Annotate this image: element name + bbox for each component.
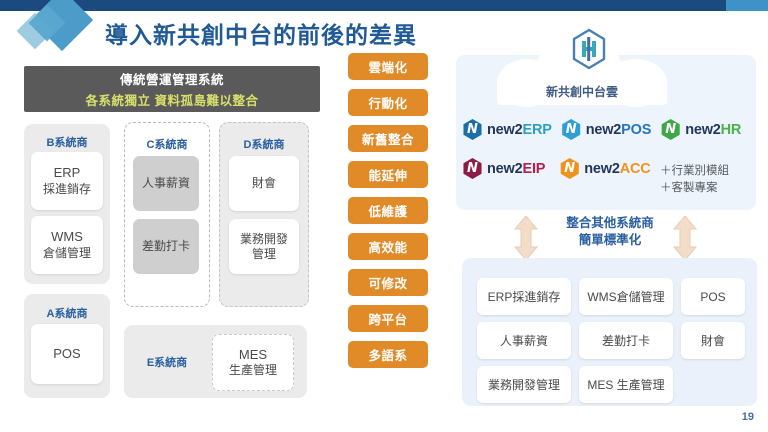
module-biz-dev: 業務開發 管理 <box>229 219 299 274</box>
extra-note-line2: ＋客製專案 <box>660 180 729 197</box>
module-biz-dev-line2: 管理 <box>252 247 276 262</box>
vendor-box-b: B系統商 ERP 採進銷存 WMS 倉儲管理 <box>24 124 110 284</box>
legacy-header-line2: 各系統獨立 資料孤島難以整合 <box>86 90 259 109</box>
module-erp-line1: ERP <box>54 165 81 181</box>
integrated-module-erp[interactable]: ERP採進銷存 <box>477 278 571 315</box>
module-pos: POS <box>31 324 103 384</box>
brand-diamond-logo <box>14 4 100 62</box>
module-mes-line2: 生產管理 <box>229 363 277 378</box>
integration-caption-line1: 整合其他系統商 <box>540 215 680 232</box>
feature-tag-crossplatform[interactable]: 跨平台 <box>348 305 428 332</box>
n-hex-icon-pos: N <box>561 119 582 140</box>
top-bar <box>0 0 768 11</box>
legacy-system-header: 傳統營運管理系統 各系統獨立 資料孤島難以整合 <box>24 66 320 112</box>
product-name-acc: new2ACC <box>584 161 650 177</box>
integrated-module-bizdev[interactable]: 業務開發管理 <box>477 366 571 403</box>
feature-tag-integrate[interactable]: 新舊整合 <box>348 125 428 152</box>
feature-tag-modifiable[interactable]: 可修改 <box>348 269 428 296</box>
vendor-box-a: A系統商 POS <box>24 294 110 398</box>
product-logo-new2eip[interactable]: N new2EIP <box>462 158 545 179</box>
feature-tag-extend[interactable]: 能延伸 <box>348 161 428 188</box>
cloud-platform-name: 新共創中台雲 <box>497 83 667 100</box>
integrated-module-payroll[interactable]: 人事薪資 <box>477 322 571 359</box>
extra-modules-note: ＋行業別模組 ＋客製專案 <box>660 163 729 196</box>
vendor-label-a: A系統商 <box>24 305 110 321</box>
vendor-label-e: E系統商 <box>124 354 210 370</box>
integrated-modules-card: ERP採進銷存 WMS倉儲管理 POS 人事薪資 差勤打卡 財會 業務開發管理 … <box>462 258 757 406</box>
product-name-erp: new2ERP <box>487 122 552 138</box>
feature-tag-multilang[interactable]: 多語系 <box>348 341 428 368</box>
module-hr-payroll-label: 人事薪資 <box>142 176 190 191</box>
vendor-label-b: B系統商 <box>24 134 110 150</box>
product-logo-new2erp[interactable]: N new2ERP <box>462 119 552 140</box>
extra-note-line1: ＋行業別模組 <box>660 163 729 180</box>
module-mes-line1: MES <box>239 347 267 363</box>
n-hex-icon-hr: N <box>660 119 681 140</box>
module-accounting-label: 財會 <box>252 176 276 191</box>
module-hr-payroll: 人事薪資 <box>133 156 199 211</box>
module-accounting: 財會 <box>229 156 299 211</box>
feature-tag-performance[interactable]: 高效能 <box>348 233 428 260</box>
feature-tag-lowmaint[interactable]: 低維護 <box>348 197 428 224</box>
module-attendance-label: 差勤打卡 <box>142 239 190 254</box>
product-name-eip: new2EIP <box>487 161 545 177</box>
module-pos-label: POS <box>53 346 80 362</box>
n-hex-icon-acc: N <box>559 158 580 179</box>
vendor-label-c: C系統商 <box>125 136 209 152</box>
double-arrow-left-icon <box>513 216 539 260</box>
integrated-module-mes[interactable]: MES 生產管理 <box>579 366 673 403</box>
integrated-module-accounting[interactable]: 財會 <box>681 322 745 359</box>
top-bar-accent <box>726 0 768 11</box>
legacy-vendor-panel: B系統商 ERP 採進銷存 WMS 倉儲管理 C系統商 人事薪資 差勤打卡 D系… <box>24 122 320 407</box>
vendor-box-c: C系統商 人事薪資 差勤打卡 <box>124 122 210 307</box>
module-wms-line2: 倉儲管理 <box>43 246 91 261</box>
product-name-pos: new2POS <box>586 122 652 138</box>
hexagon-center-icon <box>569 27 609 71</box>
integration-caption: 整合其他系統商 簡單標準化 <box>540 215 680 249</box>
integrated-module-pos[interactable]: POS <box>681 278 745 315</box>
product-logo-row-1: N new2ERP N new2POS N new2HR <box>462 119 741 140</box>
module-wms-line1: WMS <box>51 229 83 245</box>
module-mes: MES 生產管理 <box>212 334 294 391</box>
product-logo-new2hr[interactable]: N new2HR <box>660 119 741 140</box>
integration-caption-line2: 簡單標準化 <box>540 232 680 249</box>
vendor-label-d: D系統商 <box>220 136 308 152</box>
vendor-box-e: E系統商 MES 生產管理 <box>124 325 307 398</box>
module-biz-dev-line1: 業務開發 <box>240 232 288 247</box>
product-logo-new2acc[interactable]: N new2ACC <box>559 158 650 179</box>
product-name-hr: new2HR <box>685 122 741 138</box>
legacy-header-line1: 傳統營運管理系統 <box>120 69 224 88</box>
integrated-module-wms[interactable]: WMS倉儲管理 <box>579 278 673 315</box>
n-hex-icon-eip: N <box>462 158 483 179</box>
page-number: 19 <box>742 411 754 423</box>
feature-tag-cloud[interactable]: 雲端化 <box>348 53 428 80</box>
product-logo-row-2: N new2EIP N new2ACC <box>462 158 651 179</box>
module-attendance: 差勤打卡 <box>133 219 199 274</box>
product-logo-new2pos[interactable]: N new2POS <box>561 119 652 140</box>
vendor-box-d: D系統商 財會 業務開發 管理 <box>219 122 309 307</box>
integrated-module-attendance[interactable]: 差勤打卡 <box>579 322 673 359</box>
module-erp-line2: 採進銷存 <box>43 182 91 197</box>
page-title: 導入新共創中台的前後的差異 <box>105 16 417 50</box>
module-wms: WMS 倉儲管理 <box>31 216 103 274</box>
feature-tag-mobile[interactable]: 行動化 <box>348 89 428 116</box>
n-hex-icon-erp: N <box>462 119 483 140</box>
feature-tag-list: 雲端化 行動化 新舊整合 能延伸 低維護 高效能 可修改 跨平台 多語系 <box>348 53 434 377</box>
module-erp: ERP 採進銷存 <box>31 152 103 210</box>
